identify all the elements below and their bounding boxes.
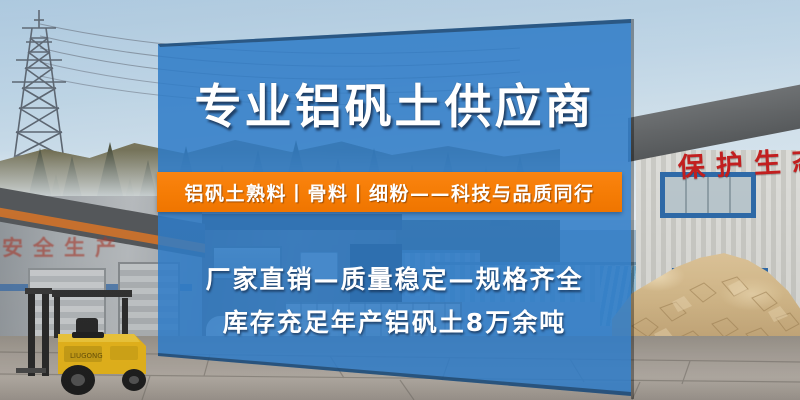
bauxite-supplier-banner: 保护生态 <box>0 0 800 400</box>
subline-block: 厂家直销—质量稳定—规格齐全 库存充足年产铝矾土8万余吨 <box>158 258 631 344</box>
ribbon-text: 铝矾土熟料丨骨料丨细粉——科技与品质同行 <box>184 179 594 206</box>
headline: 专业铝矾土供应商 <box>158 78 631 138</box>
subline-2: 库存充足年产铝矾土8万余吨 <box>158 301 631 344</box>
subline-1: 厂家直销—质量稳定—规格齐全 <box>158 258 631 301</box>
banner-content: 专业铝矾土供应商 铝矾土熟料丨骨料丨细粉——科技与品质同行 厂家直销—质量稳定—… <box>0 0 800 400</box>
orange-ribbon: 铝矾土熟料丨骨料丨细粉——科技与品质同行 <box>157 172 622 212</box>
